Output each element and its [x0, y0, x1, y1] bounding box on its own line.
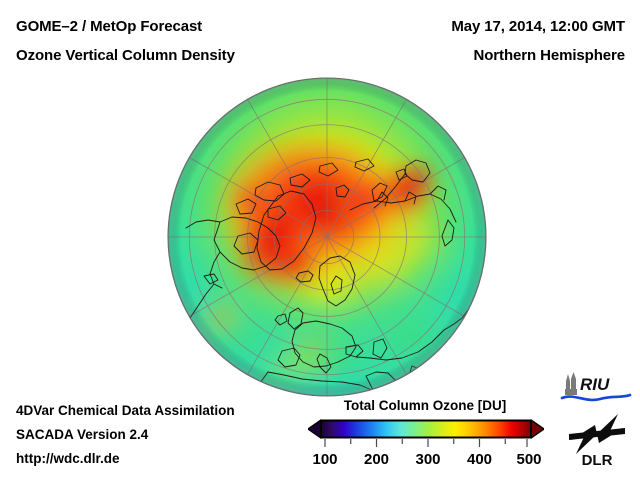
colorbar-svg: 100 200 300 400 500 [308, 418, 544, 474]
globe-limb-shading [168, 78, 486, 396]
page-subtitle: Ozone Vertical Column Density [16, 47, 235, 64]
colorbar-tick-label: 100 [312, 451, 337, 468]
colorbar-tick-label: 400 [467, 451, 492, 468]
colorbar-title: Total Column Ozone [DU] [300, 398, 550, 413]
colorbar-tick-label: 200 [364, 451, 389, 468]
dlr-mark-icon [569, 412, 625, 456]
colorbar-min-arrow [308, 420, 321, 438]
assimilation-label: 4DVar Chemical Data Assimilation [16, 403, 235, 418]
colorbar-tick-labels: 100 200 300 400 500 [312, 451, 541, 468]
ozone-forecast-figure: GOME–2 / MetOp Forecast Ozone Vertical C… [0, 0, 640, 480]
riu-logo: RIU [560, 371, 632, 405]
forecast-datetime: May 17, 2014, 12:00 GMT [451, 18, 625, 35]
colorbar-tick-label: 300 [415, 451, 440, 468]
forecast-region: Northern Hemisphere [474, 47, 625, 64]
colorbar: Total Column Ozone [DU] [300, 398, 550, 476]
dlr-wordmark: DLR [582, 452, 613, 468]
riu-wordmark: RIU [580, 375, 610, 394]
cathedral-towers-icon [565, 372, 577, 395]
blue-wave-icon [562, 395, 630, 400]
orthographic-projection-svg [160, 70, 496, 406]
page-title: GOME–2 / MetOp Forecast [16, 18, 202, 35]
website-url[interactable]: http://wdc.dlr.de [16, 451, 120, 466]
globe-map [160, 70, 496, 406]
colorbar-gradient [321, 421, 531, 438]
colorbar-max-arrow [531, 420, 544, 438]
colorbar-ticks [325, 439, 527, 447]
colorbar-tick-label: 500 [516, 451, 541, 468]
version-label: SACADA Version 2.4 [16, 427, 148, 442]
dlr-logo: DLR [566, 410, 628, 468]
